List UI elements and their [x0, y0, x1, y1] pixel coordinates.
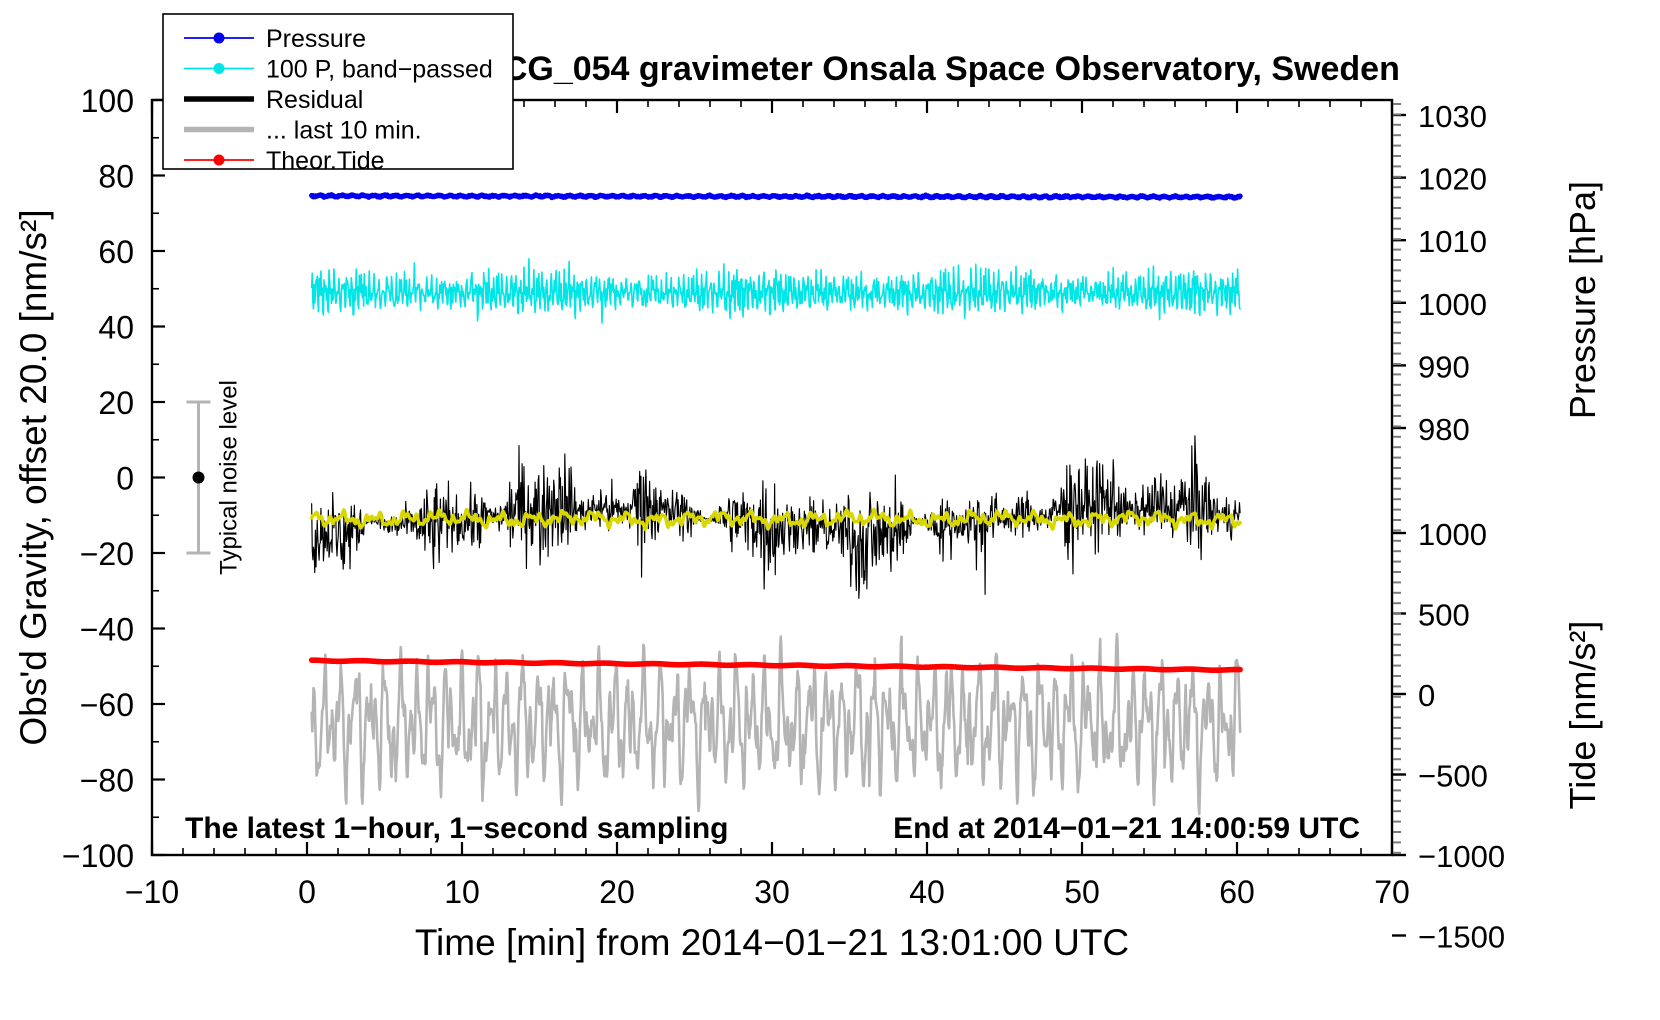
x-tick-label: 40 — [909, 874, 945, 910]
legend-label: Pressure — [266, 25, 366, 53]
tide-tick-label: 500 — [1418, 598, 1470, 633]
noise-bar-label: Typical noise level — [216, 380, 243, 575]
x-tick-label: 30 — [754, 874, 790, 910]
gravimeter-timeseries-chart: −10010203040506070Time [min] from 2014−0… — [0, 0, 1660, 1020]
annotation-bottom-left: The latest 1−hour, 1−second sampling — [185, 812, 729, 845]
x-tick-label: 60 — [1219, 874, 1255, 910]
pressure-tick-label: 1010 — [1418, 224, 1487, 259]
x-tick-label: 0 — [298, 874, 316, 910]
pressure-tick-label: 980 — [1418, 412, 1470, 447]
trace-pressure — [312, 195, 1240, 198]
x-tick-label: −10 — [125, 874, 179, 910]
chart-canvas: −10010203040506070Time [min] from 2014−0… — [0, 0, 1660, 1020]
annotation-bottom-right: End at 2014−01−21 14:00:59 UTC — [893, 812, 1360, 845]
legend-label: 100 P, band−passed — [266, 56, 493, 84]
tide-tick-label: −1500 — [1418, 920, 1505, 955]
y-tick-label: −80 — [80, 763, 134, 799]
y-tick-label: 20 — [98, 385, 134, 421]
noise-bar-center-dot — [193, 472, 205, 484]
y-tick-label: 0 — [116, 461, 134, 497]
tide-tick-label: −500 — [1418, 759, 1488, 794]
legend-marker-dot — [214, 33, 225, 44]
pressure-tick-label: 1020 — [1418, 162, 1487, 197]
y-tick-label: 40 — [98, 310, 134, 346]
pressure-axis-label: Pressure [hPa] — [1562, 181, 1603, 419]
legend-marker-dot — [214, 63, 225, 74]
tide-tick-label: 1000 — [1418, 517, 1487, 552]
y-tick-label: −40 — [80, 612, 134, 648]
x-axis-label: Time [min] from 2014−01−21 13:01:00 UTC — [415, 922, 1129, 963]
legend-label: ... last 10 min. — [266, 117, 422, 145]
y-tick-label: 100 — [81, 83, 134, 119]
x-tick-label: 20 — [599, 874, 635, 910]
y-tick-label: −20 — [80, 536, 134, 572]
legend: Pressure100 P, band−passedResidual... la… — [163, 14, 513, 175]
chart-title: SCG_054 gravimeter Onsala Space Observat… — [480, 50, 1400, 88]
y-axis-label: Obs'd Gravity, offset 20.0 [nm/s²] — [13, 209, 54, 745]
tide-tick-label: −1000 — [1418, 839, 1505, 874]
legend-label: Theor.Tide — [266, 147, 385, 175]
tide-axis-label: Tide [nm/s²] — [1562, 621, 1603, 810]
y-tick-label: −60 — [80, 687, 134, 723]
legend-label: Residual — [266, 86, 363, 114]
y-tick-label: 80 — [98, 159, 134, 195]
x-tick-label: 70 — [1374, 874, 1410, 910]
tide-tick-label: 0 — [1418, 678, 1435, 713]
x-tick-label: 50 — [1064, 874, 1100, 910]
y-tick-label: 60 — [98, 234, 134, 270]
x-tick-label: 10 — [444, 874, 480, 910]
pressure-tick-label: 1030 — [1418, 99, 1487, 134]
pressure-tick-label: 1000 — [1418, 287, 1487, 322]
pressure-tick-label: 990 — [1418, 349, 1470, 384]
y-tick-label: −100 — [62, 838, 134, 874]
legend-marker-dot — [214, 155, 225, 166]
